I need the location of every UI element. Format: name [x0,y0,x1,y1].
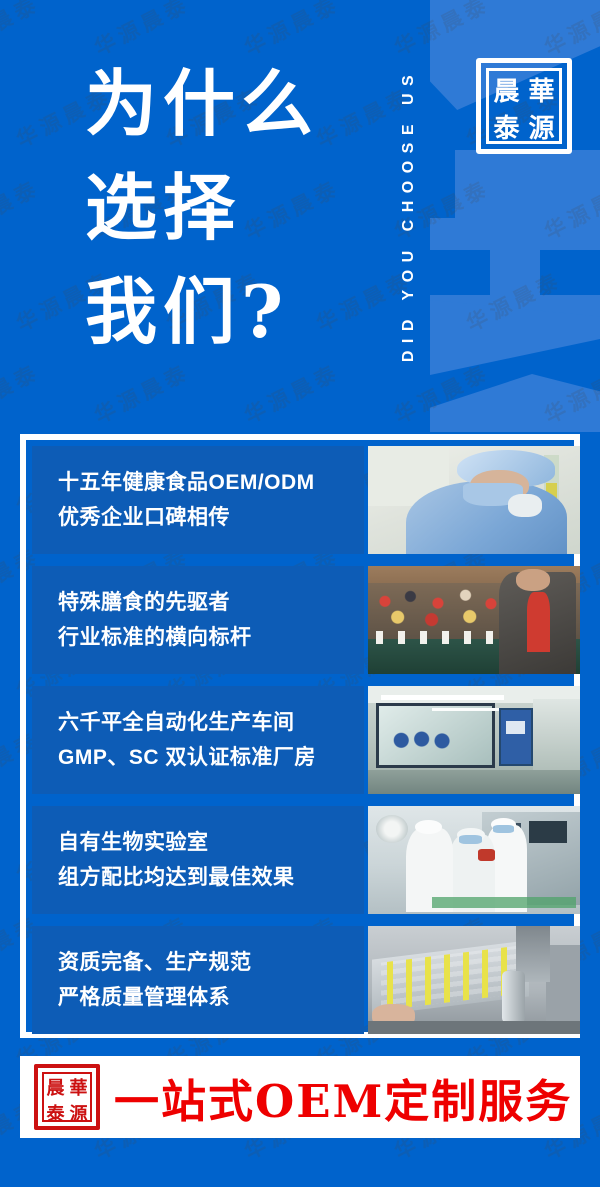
vertical-tagline: DID YOU CHOOSE US [392,0,426,430]
title-line-3: 我们? [85,260,319,364]
seal-char-1: 晨 [489,71,524,108]
feature-card-text: 十五年健康食品OEM/ODM 优秀企业口碑相传 [32,446,364,554]
feature-line-1: 六千平全自动化生产车间 [58,708,364,738]
vertical-tagline-text: DID YOU CHOOSE US [400,68,418,362]
feature-card: 十五年健康食品OEM/ODM 优秀企业口碑相传 [32,446,580,554]
seal-char-4: 源 [524,108,559,145]
hero-section: 为什么 选择 我们? DID YOU CHOOSE US 晨 華 泰 源 [0,0,600,432]
feature-card: 六千平全自动化生产车间 GMP、SC 双认证标准厂房 [32,686,580,794]
title-line-2: 选择 [85,156,319,260]
seal-char-3: 泰 [489,108,524,145]
feature-card: 自有生物实验室 组方配比均达到最佳效果 [32,806,580,914]
feature-line-1: 十五年健康食品OEM/ODM [58,468,364,498]
feature-line-1: 特殊膳食的先驱者 [58,588,364,618]
feature-card: 特殊膳食的先驱者 行业标准的横向标杆 [32,566,580,674]
feature-line-1: 自有生物实验室 [58,828,364,858]
banner-seal-char-1: 晨 [44,1074,67,1100]
production-line-workers-photo [368,806,580,914]
banner-seal-char-3: 泰 [44,1100,67,1126]
feature-card-text: 特殊膳食的先驱者 行业标准的横向标杆 [32,566,364,674]
feature-line-1: 资质完备、生产规范 [58,948,364,978]
feature-card-text: 六千平全自动化生产车间 GMP、SC 双认证标准厂房 [32,686,364,794]
banner-headline: 一站式OEM定制服务 [114,1065,572,1130]
conference-audience-photo [368,566,580,674]
feature-card: 资质完备、生产规范 严格质量管理体系 [32,926,580,1034]
blister-packing-machine-photo [368,926,580,1034]
feature-line-2: 行业标准的横向标杆 [58,623,364,653]
bottom-banner: 晨 華 泰 源 一站式OEM定制服务 [20,1056,580,1138]
feature-card-text: 资质完备、生产规范 严格质量管理体系 [32,926,364,1034]
lab-technician-photo [368,446,580,554]
feature-line-2: 优秀企业口碑相传 [58,503,364,533]
feature-line-2: GMP、SC 双认证标准厂房 [58,743,364,773]
seal-char-2: 華 [524,71,559,108]
brand-seal-icon: 晨 華 泰 源 [476,58,572,154]
cleanroom-corridor-photo [368,686,580,794]
banner-seal-icon: 晨 華 泰 源 [34,1064,100,1130]
feature-line-2: 严格质量管理体系 [58,983,364,1013]
title-line-1: 为什么 [85,52,319,156]
feature-line-2: 组方配比均达到最佳效果 [58,863,364,893]
feature-card-list: 十五年健康食品OEM/ODM 优秀企业口碑相传 特殊膳食的先驱者 行业标准的横向… [32,446,580,1034]
feature-card-text: 自有生物实验室 组方配比均达到最佳效果 [32,806,364,914]
banner-seal-char-4: 源 [67,1100,90,1126]
page-title: 为什么 选择 我们? [85,52,319,364]
banner-seal-char-2: 華 [67,1074,90,1100]
poster-root: 为什么 选择 我们? DID YOU CHOOSE US 晨 華 泰 源 十五年… [0,0,600,1187]
